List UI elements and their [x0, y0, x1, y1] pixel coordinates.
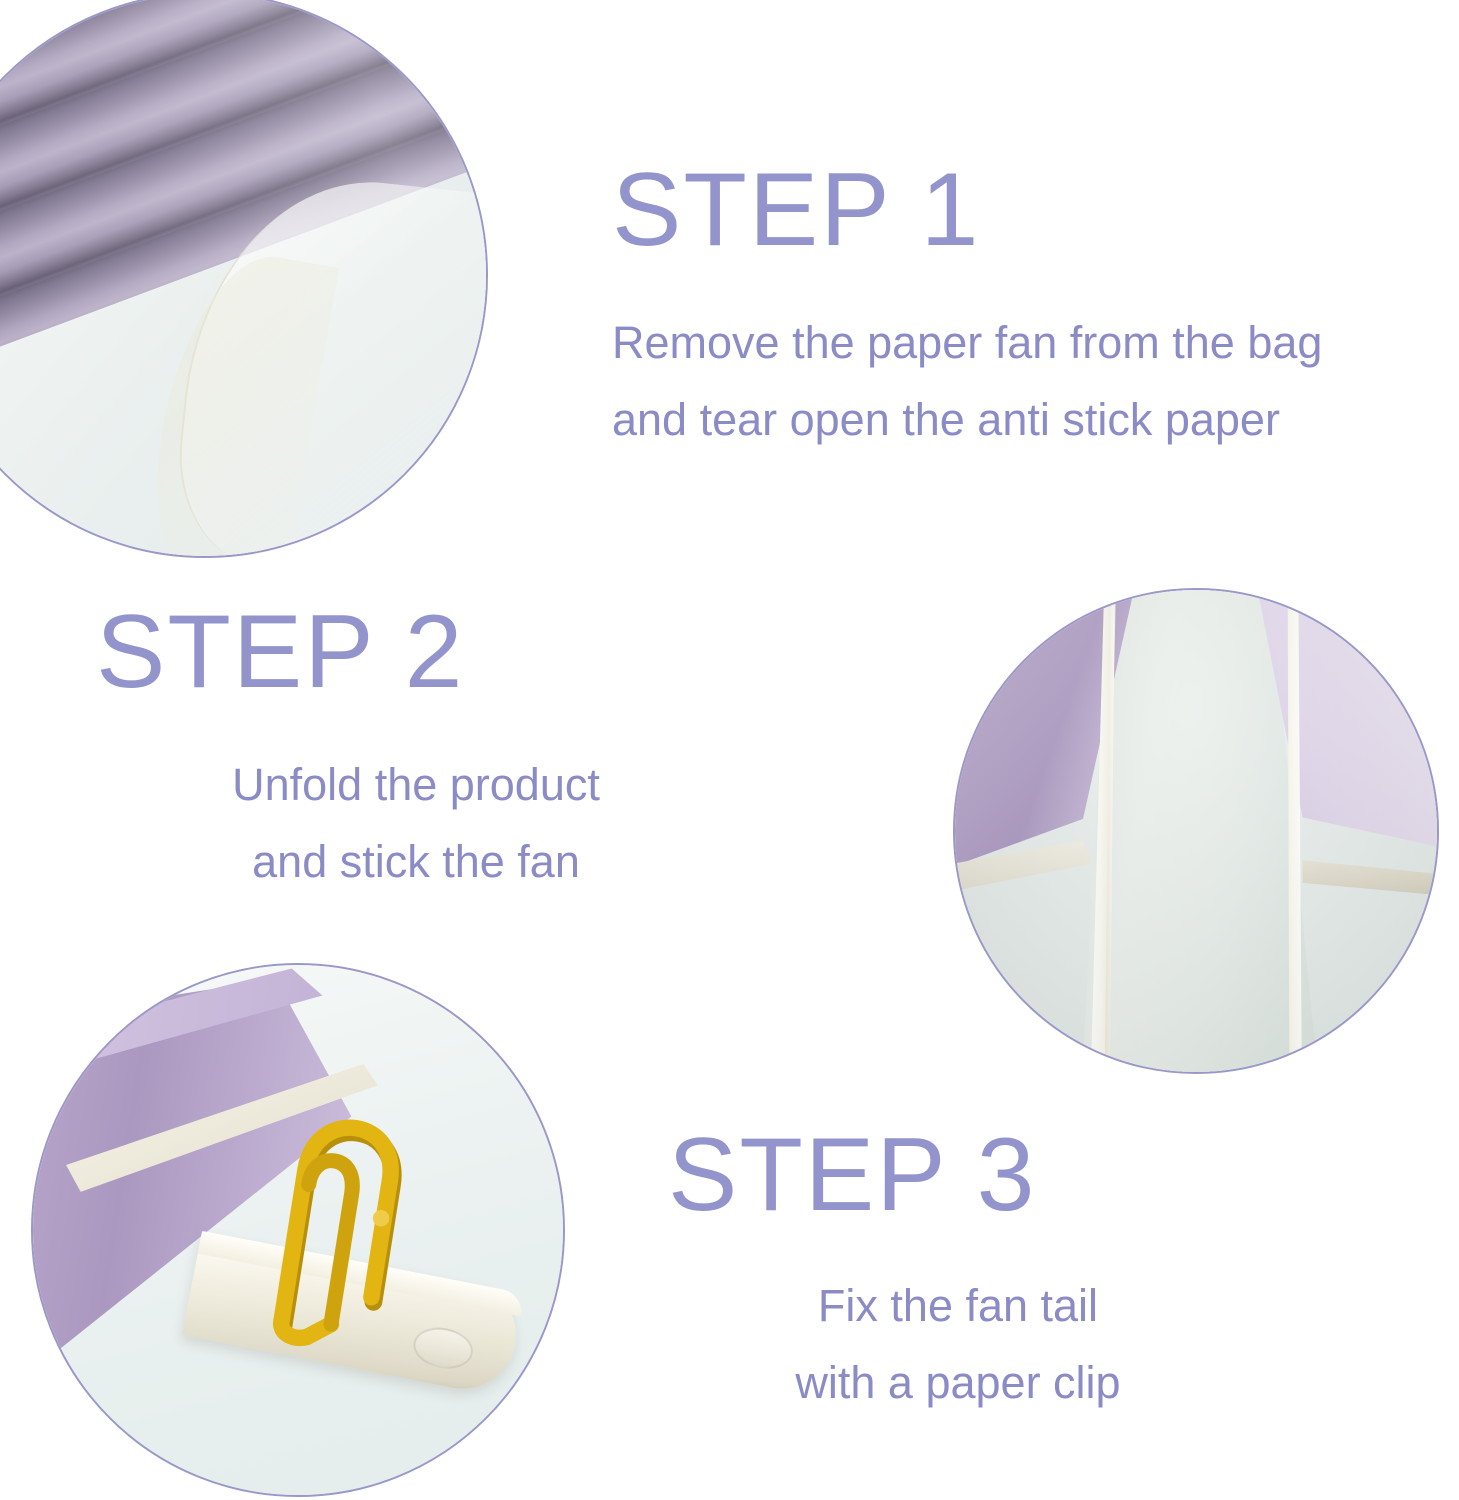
step-3-line-1: Fix the fan tail — [668, 1267, 1248, 1344]
step-2-photo — [953, 588, 1439, 1074]
instruction-infographic: STEP 1 Remove the paper fan from the bag… — [0, 0, 1459, 1500]
step-1-text: STEP 1 Remove the paper fan from the bag… — [612, 158, 1322, 459]
fan-tail-dimple — [410, 1323, 476, 1374]
step-2-description: Unfold the product and stick the fan — [96, 746, 736, 901]
step-1-photo-content — [0, 0, 486, 556]
step-3-line-2: with a paper clip — [668, 1344, 1248, 1421]
step-1-line-2: and tear open the anti stick paper — [612, 381, 1322, 458]
step-3-heading: STEP 3 — [668, 1123, 1248, 1227]
step-2-heading: STEP 2 — [96, 600, 736, 704]
step-3-photo — [31, 963, 565, 1497]
step-1-line-1: Remove the paper fan from the bag — [612, 304, 1322, 381]
step-2-vignette — [955, 590, 1437, 1072]
step-2-text: STEP 2 Unfold the product and stick the … — [96, 600, 736, 901]
step-1-heading: STEP 1 — [612, 158, 1322, 262]
step-1-photo — [0, 0, 488, 558]
step-2-line-2: and stick the fan — [96, 823, 736, 900]
step-3-description: Fix the fan tail with a paper clip — [668, 1267, 1248, 1422]
step-2-photo-content — [955, 590, 1437, 1072]
step-3-text: STEP 3 Fix the fan tail with a paper cli… — [668, 1123, 1248, 1422]
step-3-photo-content — [33, 965, 563, 1495]
step-2-line-1: Unfold the product — [96, 746, 736, 823]
step-1-description: Remove the paper fan from the bag and te… — [612, 304, 1322, 459]
